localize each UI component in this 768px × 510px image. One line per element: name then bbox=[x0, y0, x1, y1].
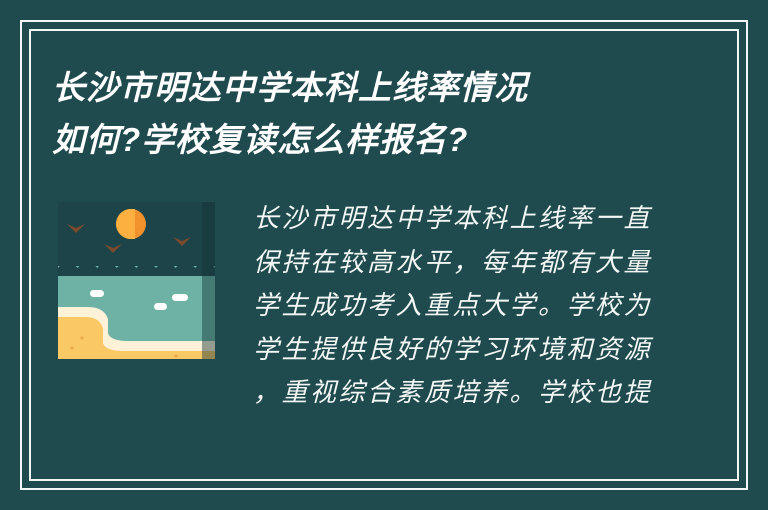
body-line: 学生成功考入重点大学。学校为 bbox=[253, 285, 716, 329]
page-title: 长沙市明达中学本科上线率情况 如何?学校复读怎么样报名? bbox=[52, 62, 692, 166]
body-line: ，重视综合素质培养。学校也提 bbox=[253, 372, 716, 416]
sand-beach bbox=[58, 310, 215, 359]
body-line: 长沙市明达中学本科上线率一直 bbox=[253, 198, 716, 242]
illustration-shade-overlay bbox=[202, 202, 215, 359]
sea-foam bbox=[172, 294, 188, 301]
bird-icon bbox=[104, 244, 122, 253]
body-line: 学生提供良好的学习环境和资源 bbox=[253, 329, 716, 373]
content-row: 长沙市明达中学本科上线率一直 保持在较高水平，每年都有大量 学生成功考入重点大学… bbox=[52, 196, 716, 416]
beach-sunset-illustration bbox=[58, 202, 215, 359]
sun-icon bbox=[116, 209, 146, 239]
bird-icon bbox=[67, 224, 85, 233]
title-line-2: 如何?学校复读怎么样报名? bbox=[52, 114, 692, 166]
bird-icon bbox=[173, 237, 191, 246]
body-line: 保持在较高水平，每年都有大量 bbox=[253, 242, 716, 286]
article-card: 长沙市明达中学本科上线率情况 如何?学校复读怎么样报名? bbox=[0, 0, 768, 510]
article-body: 长沙市明达中学本科上线率一直 保持在较高水平，每年都有大量 学生成功考入重点大学… bbox=[253, 196, 716, 416]
sea-foam bbox=[90, 290, 104, 297]
title-line-1: 长沙市明达中学本科上线率情况 bbox=[52, 62, 692, 114]
wave-crests bbox=[58, 260, 215, 276]
